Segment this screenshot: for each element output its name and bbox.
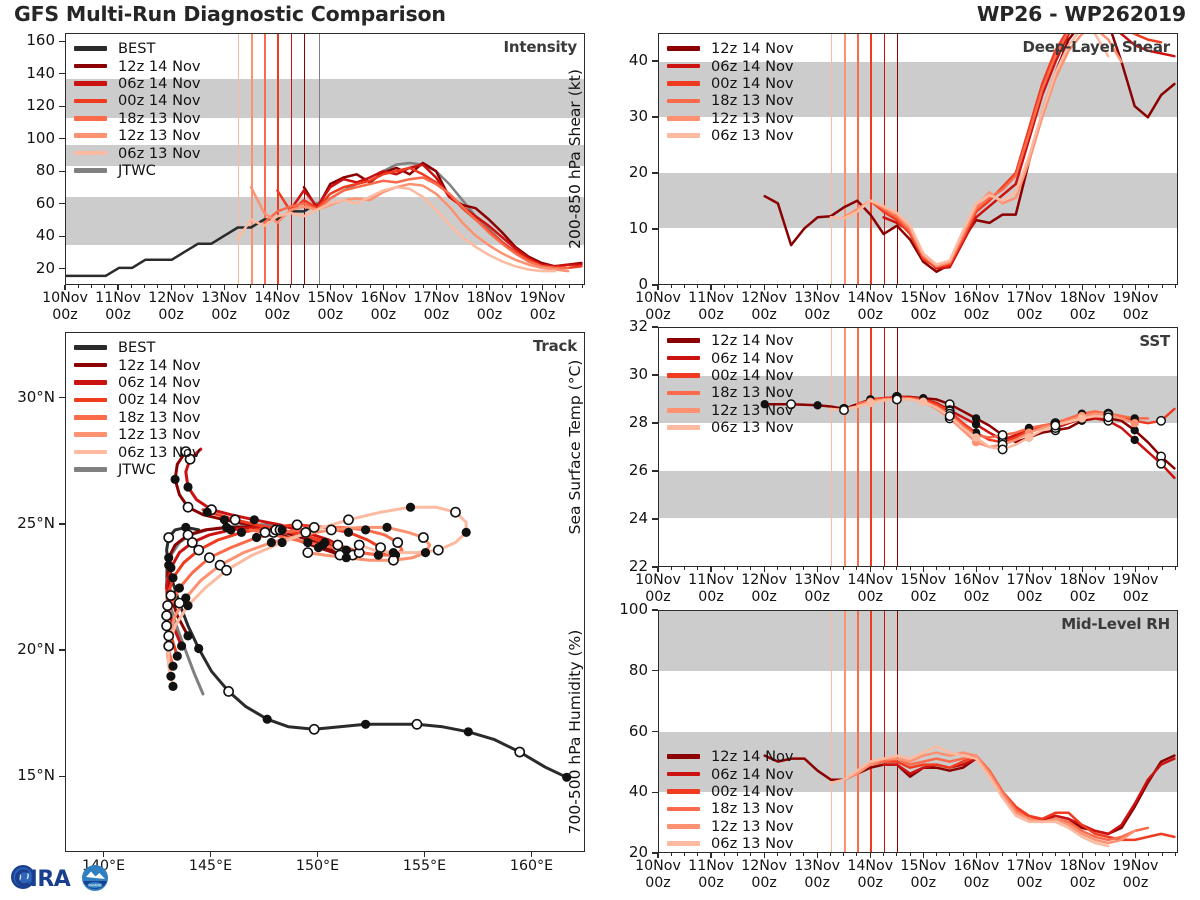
track-point-marker bbox=[252, 533, 261, 542]
track-legend-label: 06z 14 Nov bbox=[118, 374, 201, 391]
intensity-x-hour: 00z bbox=[52, 307, 78, 323]
track-point-marker bbox=[344, 528, 353, 537]
track-legend-swatch bbox=[74, 345, 107, 350]
sst-point-marker bbox=[972, 433, 980, 441]
intensity-legend-label: BEST bbox=[118, 40, 155, 57]
track-point-marker bbox=[173, 652, 182, 661]
shear-x-minor-tick bbox=[737, 285, 738, 288]
rh-x-minor-tick bbox=[1095, 853, 1096, 856]
intensity-legend-swatch bbox=[74, 133, 107, 138]
shear-y-tickmark bbox=[652, 172, 658, 173]
track-point-marker bbox=[462, 528, 471, 537]
intensity-x-minor-tick bbox=[343, 285, 344, 288]
svg-text:CIRA: CIRA bbox=[14, 867, 71, 892]
track-point-marker bbox=[166, 591, 175, 600]
track-legend-item: 18z 13 Nov bbox=[74, 409, 201, 426]
track-x-tickmark bbox=[210, 852, 211, 857]
intensity-y-tickmark bbox=[59, 41, 65, 42]
rh-x-minor-tick bbox=[750, 853, 751, 856]
sst-x-minor-tick bbox=[949, 567, 950, 570]
intensity-x-date: 12Nov bbox=[148, 290, 194, 306]
track-point-marker bbox=[166, 563, 175, 572]
sst-legend-label: 12z 14 Nov bbox=[711, 332, 794, 349]
track-legend-swatch bbox=[74, 363, 107, 368]
intensity-legend-label: 12z 13 Nov bbox=[118, 127, 201, 144]
intensity-x-minor-tick bbox=[569, 285, 570, 288]
sst-x-minor-tick bbox=[671, 567, 672, 570]
shear-x-minor-tick bbox=[697, 285, 698, 288]
shear-x-hour: 00z bbox=[645, 307, 671, 323]
intensity-legend-swatch bbox=[74, 46, 107, 51]
shear-x-hour: 00z bbox=[698, 307, 724, 323]
intensity-legend-item: 06z 13 Nov bbox=[74, 144, 201, 161]
shear-x-minor-tick bbox=[803, 285, 804, 288]
rh-legend-label: 06z 13 Nov bbox=[711, 835, 794, 852]
sst-x-minor-tick bbox=[883, 567, 884, 570]
track-legend-label: 12z 13 Nov bbox=[118, 426, 201, 443]
sst-legend-item: 06z 13 Nov bbox=[667, 419, 794, 436]
shear-x-minor-tick bbox=[936, 285, 937, 288]
intensity-x-minor-tick bbox=[356, 285, 357, 288]
track-point-marker bbox=[434, 546, 443, 555]
track-point-marker bbox=[293, 520, 302, 529]
sst-x-hour: 00z bbox=[1070, 589, 1096, 605]
intensity-x-hour: 00z bbox=[424, 307, 450, 323]
track-point-marker bbox=[163, 601, 172, 610]
intensity-x-minor-tick bbox=[423, 285, 424, 288]
shear-legend-label: 18z 13 Nov bbox=[711, 92, 794, 109]
sst-legend-item: 12z 14 Nov bbox=[667, 332, 794, 349]
intensity-x-minor-tick bbox=[317, 285, 318, 288]
shear-x-minor-tick bbox=[750, 285, 751, 288]
rh-x-hour: 00z bbox=[645, 875, 671, 891]
rh-x-date: 14Nov bbox=[847, 858, 893, 874]
track-point-marker bbox=[320, 538, 329, 547]
track-point-marker bbox=[421, 548, 430, 557]
sst-x-date: 12Nov bbox=[741, 572, 787, 588]
track-point-marker bbox=[267, 538, 276, 547]
rh-x-minor-tick bbox=[856, 853, 857, 856]
track-y-tickmark bbox=[59, 776, 65, 777]
sst-x-minor-tick bbox=[1109, 567, 1110, 570]
track-legend: BEST12z 14 Nov06z 14 Nov00z 14 Nov18z 13… bbox=[74, 339, 201, 478]
intensity-line bbox=[238, 187, 555, 271]
track-point-marker bbox=[361, 525, 370, 534]
rh-x-minor-tick bbox=[963, 853, 964, 856]
rh-x-minor-tick bbox=[1148, 853, 1149, 856]
track-legend-swatch bbox=[74, 467, 107, 472]
rh-y-tickmark bbox=[652, 792, 658, 793]
rh-x-date: 15Nov bbox=[900, 858, 946, 874]
sst-point-marker bbox=[1131, 436, 1139, 444]
sst-x-minor-tick bbox=[724, 567, 725, 570]
rh-legend-label: 18z 13 Nov bbox=[711, 800, 794, 817]
track-legend-label: BEST bbox=[118, 339, 155, 356]
intensity-x-date: 19Nov bbox=[520, 290, 566, 306]
rh-x-hour: 00z bbox=[804, 875, 830, 891]
intensity-x-hour: 00z bbox=[530, 307, 556, 323]
rh-y-tick-label: 80 bbox=[592, 661, 648, 679]
track-point-marker bbox=[451, 508, 460, 517]
track-point-marker bbox=[303, 548, 312, 557]
sst-x-minor-tick bbox=[1002, 567, 1003, 570]
intensity-x-minor-tick bbox=[529, 285, 530, 288]
sst-x-minor-tick bbox=[830, 567, 831, 570]
track-x-tick-label: 150°E bbox=[278, 858, 358, 875]
rh-x-minor-tick bbox=[843, 853, 844, 856]
rh-x-minor-tick bbox=[949, 853, 950, 856]
track-y-tick-label: 30°N bbox=[0, 388, 55, 406]
intensity-y-tick-label: 100 bbox=[0, 129, 55, 147]
track-point-marker bbox=[278, 538, 287, 547]
sst-x-minor-tick bbox=[737, 567, 738, 570]
rh-x-date: 18Nov bbox=[1060, 858, 1106, 874]
shear-x-minor-tick bbox=[1002, 285, 1003, 288]
shear-y-tick-label: 20 bbox=[592, 163, 648, 181]
sst-point-marker bbox=[1104, 413, 1112, 421]
shear-x-hour: 00z bbox=[911, 307, 937, 323]
figure-root: GFS Multi-Run Diagnostic Comparison WP26… bbox=[0, 0, 1200, 900]
intensity-x-minor-tick bbox=[303, 285, 304, 288]
track-legend-item: 06z 13 Nov bbox=[74, 443, 201, 460]
rh-legend-swatch bbox=[667, 824, 700, 829]
rh-legend-item: 12z 14 Nov bbox=[667, 748, 794, 765]
sst-x-minor-tick bbox=[684, 567, 685, 570]
track-legend-swatch bbox=[74, 450, 107, 455]
rh-x-hour: 00z bbox=[1017, 875, 1043, 891]
sst-point-marker bbox=[866, 399, 874, 407]
rh-legend: 12z 14 Nov06z 14 Nov00z 14 Nov18z 13 Nov… bbox=[667, 748, 794, 852]
sst-y-tick-label: 30 bbox=[592, 365, 648, 383]
shear-x-minor-tick bbox=[856, 285, 857, 288]
shear-x-minor-tick bbox=[1175, 285, 1176, 288]
rh-legend-item: 06z 13 Nov bbox=[667, 835, 794, 852]
track-legend-label: 12z 14 Nov bbox=[118, 357, 201, 374]
rh-x-date: 19Nov bbox=[1113, 858, 1159, 874]
rh-legend-item: 00z 14 Nov bbox=[667, 783, 794, 800]
intensity-legend-label: JTWC bbox=[118, 162, 156, 179]
intensity-x-hour: 00z bbox=[105, 307, 131, 323]
rh-x-minor-tick bbox=[1069, 853, 1070, 856]
track-point-marker bbox=[177, 641, 186, 650]
intensity-line bbox=[291, 165, 582, 267]
intensity-y-tickmark bbox=[59, 171, 65, 172]
shear-x-minor-tick bbox=[724, 285, 725, 288]
rh-y-tick-label: 40 bbox=[592, 782, 648, 800]
sst-point-marker bbox=[1078, 414, 1086, 422]
rh-legend-item: 06z 14 Nov bbox=[667, 765, 794, 782]
shear-y-tickmark bbox=[652, 228, 658, 229]
rh-x-minor-tick bbox=[936, 853, 937, 856]
intensity-legend-item: BEST bbox=[74, 40, 201, 57]
rh-x-hour: 00z bbox=[751, 875, 777, 891]
track-line bbox=[167, 527, 567, 777]
cira-logo: CIRA RAMMB bbox=[6, 855, 126, 897]
intensity-x-date: 17Nov bbox=[414, 290, 460, 306]
sst-point-marker bbox=[1051, 421, 1059, 429]
rh-x-minor-tick bbox=[1016, 853, 1017, 856]
track-point-marker bbox=[166, 672, 175, 681]
rh-x-minor-tick bbox=[1122, 853, 1123, 856]
track-point-marker bbox=[250, 515, 259, 524]
track-point-marker bbox=[188, 538, 197, 547]
shear-x-minor-tick bbox=[1122, 285, 1123, 288]
sst-y-tick-label: 26 bbox=[592, 461, 648, 479]
shear-legend-swatch bbox=[667, 81, 700, 86]
track-point-marker bbox=[237, 528, 246, 537]
track-point-marker bbox=[310, 523, 319, 532]
shear-legend-label: 00z 14 Nov bbox=[711, 75, 794, 92]
sst-point-marker bbox=[998, 445, 1006, 453]
sst-x-minor-tick bbox=[1042, 567, 1043, 570]
sst-x-minor-tick bbox=[843, 567, 844, 570]
shear-x-date: 19Nov bbox=[1113, 290, 1159, 306]
shear-x-hour: 00z bbox=[1123, 307, 1149, 323]
rh-x-minor-tick bbox=[671, 853, 672, 856]
intensity-legend-swatch bbox=[74, 64, 107, 69]
track-legend-item: 06z 14 Nov bbox=[74, 374, 201, 391]
rh-legend-swatch bbox=[667, 789, 700, 794]
sst-point-marker bbox=[1131, 419, 1139, 427]
sst-legend-swatch bbox=[667, 391, 700, 396]
intensity-legend-swatch bbox=[74, 99, 107, 104]
sst-y-tickmark bbox=[652, 374, 658, 375]
rh-x-minor-tick bbox=[777, 853, 778, 856]
intensity-y-tickmark bbox=[59, 106, 65, 107]
intensity-legend-label: 06z 14 Nov bbox=[118, 75, 201, 92]
intensity-legend-label: 18z 13 Nov bbox=[118, 110, 201, 127]
sst-point-marker bbox=[946, 412, 954, 420]
shear-line bbox=[857, 34, 1134, 266]
rh-x-date: 11Nov bbox=[688, 858, 734, 874]
track-x-tick-label: 145°E bbox=[171, 858, 251, 875]
svg-text:RAMMB: RAMMB bbox=[88, 884, 102, 888]
track-legend-label: JTWC bbox=[118, 461, 156, 478]
sst-legend: 12z 14 Nov06z 14 Nov00z 14 Nov18z 13 Nov… bbox=[667, 332, 794, 436]
rh-x-minor-tick bbox=[803, 853, 804, 856]
sst-panel-title: SST bbox=[1139, 332, 1170, 350]
shear-x-minor-tick bbox=[883, 285, 884, 288]
track-point-marker bbox=[327, 525, 336, 534]
track-legend-swatch bbox=[74, 432, 107, 437]
shear-x-minor-tick bbox=[1162, 285, 1163, 288]
intensity-x-minor-tick bbox=[237, 285, 238, 288]
shear-x-date: 18Nov bbox=[1060, 290, 1106, 306]
shear-panel-title: Deep-Layer Shear bbox=[1022, 38, 1170, 56]
track-point-marker bbox=[389, 548, 398, 557]
rh-x-hour: 00z bbox=[698, 875, 724, 891]
rh-x-hour: 00z bbox=[964, 875, 990, 891]
track-point-marker bbox=[310, 725, 319, 734]
sst-x-date: 14Nov bbox=[847, 572, 893, 588]
rh-y-tickmark bbox=[652, 609, 658, 610]
intensity-x-minor-tick bbox=[131, 285, 132, 288]
sst-y-tick-label: 24 bbox=[592, 509, 648, 527]
rh-legend-label: 12z 13 Nov bbox=[711, 818, 794, 835]
sst-x-minor-tick bbox=[1175, 567, 1176, 570]
intensity-x-minor-tick bbox=[184, 285, 185, 288]
rh-legend-label: 12z 14 Nov bbox=[711, 748, 794, 765]
track-point-marker bbox=[162, 611, 171, 620]
intensity-legend-label: 06z 13 Nov bbox=[118, 145, 201, 162]
shear-x-date: 11Nov bbox=[688, 290, 734, 306]
rh-y-axis-label: 700-500 hPa Humidity (%) bbox=[566, 629, 584, 834]
track-y-tickmark bbox=[59, 397, 65, 398]
rh-legend-swatch bbox=[667, 772, 700, 777]
shear-legend-label: 12z 13 Nov bbox=[711, 110, 794, 127]
shear-x-minor-tick bbox=[671, 285, 672, 288]
sst-x-minor-tick bbox=[1069, 567, 1070, 570]
shear-x-date: 12Nov bbox=[741, 290, 787, 306]
sst-legend-label: 00z 14 Nov bbox=[711, 367, 794, 384]
intensity-legend-item: 00z 14 Nov bbox=[74, 92, 201, 109]
intensity-line bbox=[277, 168, 581, 268]
intensity-x-tick-label: 19Nov00z bbox=[509, 290, 577, 324]
sst-y-axis-label: Sea Surface Temp (°C) bbox=[566, 360, 584, 535]
sst-x-minor-tick bbox=[697, 567, 698, 570]
sst-x-hour: 00z bbox=[1017, 589, 1043, 605]
shear-x-minor-tick bbox=[843, 285, 844, 288]
shear-x-date: 17Nov bbox=[1007, 290, 1053, 306]
sst-x-minor-tick bbox=[1122, 567, 1123, 570]
intensity-x-minor-tick bbox=[449, 285, 450, 288]
sst-legend-label: 06z 13 Nov bbox=[711, 419, 794, 436]
sst-legend-item: 18z 13 Nov bbox=[667, 384, 794, 401]
track-point-marker bbox=[226, 525, 235, 534]
track-point-marker bbox=[263, 715, 272, 724]
shear-legend-item: 06z 13 Nov bbox=[667, 127, 794, 144]
track-legend-item: 12z 13 Nov bbox=[74, 426, 201, 443]
intensity-x-date: 18Nov bbox=[467, 290, 513, 306]
intensity-x-minor-tick bbox=[263, 285, 264, 288]
sst-x-minor-tick bbox=[1016, 567, 1017, 570]
shear-legend-swatch bbox=[667, 64, 700, 69]
rh-x-minor-tick bbox=[724, 853, 725, 856]
page-title-left: GFS Multi-Run Diagnostic Comparison bbox=[14, 2, 446, 26]
track-point-marker bbox=[344, 515, 353, 524]
intensity-x-minor-tick bbox=[290, 285, 291, 288]
track-point-marker bbox=[183, 482, 192, 491]
sst-x-minor-tick bbox=[803, 567, 804, 570]
sst-legend-item: 12z 13 Nov bbox=[667, 402, 794, 419]
track-point-marker bbox=[194, 546, 203, 555]
rh-y-tick-label: 100 bbox=[592, 600, 648, 618]
rh-x-hour: 00z bbox=[1070, 875, 1096, 891]
shear-legend-label: 06z 13 Nov bbox=[711, 127, 794, 144]
track-x-tickmark bbox=[424, 852, 425, 857]
rh-x-date: 12Nov bbox=[741, 858, 787, 874]
track-x-tickmark bbox=[317, 852, 318, 857]
track-point-marker bbox=[224, 687, 233, 696]
rh-x-minor-tick bbox=[1109, 853, 1110, 856]
track-x-tick-label: 155°E bbox=[385, 858, 465, 875]
rh-x-minor-tick bbox=[1042, 853, 1043, 856]
sst-point-marker bbox=[998, 431, 1006, 439]
rh-legend-swatch bbox=[667, 807, 700, 812]
intensity-x-minor-tick bbox=[250, 285, 251, 288]
intensity-legend-swatch bbox=[74, 168, 107, 173]
shear-x-minor-tick bbox=[989, 285, 990, 288]
track-point-marker bbox=[164, 533, 173, 542]
shear-x-minor-tick bbox=[1016, 285, 1017, 288]
track-point-marker bbox=[231, 515, 240, 524]
rh-x-minor-tick bbox=[830, 853, 831, 856]
intensity-y-tickmark bbox=[59, 138, 65, 139]
track-point-marker bbox=[175, 583, 184, 592]
intensity-y-tick-label: 20 bbox=[0, 259, 55, 277]
intensity-x-hour: 00z bbox=[264, 307, 290, 323]
rh-line bbox=[765, 756, 1175, 834]
rh-legend-label: 00z 14 Nov bbox=[711, 783, 794, 800]
sst-x-hour: 00z bbox=[751, 589, 777, 605]
intensity-y-tickmark bbox=[59, 236, 65, 237]
intensity-x-minor-tick bbox=[91, 285, 92, 288]
intensity-y-tick-label: 40 bbox=[0, 226, 55, 244]
intensity-x-minor-tick bbox=[476, 285, 477, 288]
track-point-marker bbox=[168, 662, 177, 671]
track-point-marker bbox=[355, 540, 364, 549]
sst-x-hour: 00z bbox=[964, 589, 990, 605]
rh-legend-swatch bbox=[667, 754, 700, 759]
sst-x-minor-tick bbox=[790, 567, 791, 570]
track-point-marker bbox=[194, 644, 203, 653]
shear-y-tick-label: 30 bbox=[592, 107, 648, 125]
sst-legend-item: 00z 14 Nov bbox=[667, 367, 794, 384]
sst-legend-label: 12z 13 Nov bbox=[711, 402, 794, 419]
intensity-legend-item: JTWC bbox=[74, 162, 201, 179]
intensity-legend-item: 12z 13 Nov bbox=[74, 127, 201, 144]
shear-x-minor-tick bbox=[1042, 285, 1043, 288]
shear-x-tick-label: 19Nov00z bbox=[1102, 290, 1170, 324]
sst-x-minor-tick bbox=[1095, 567, 1096, 570]
shear-y-tickmark bbox=[652, 116, 658, 117]
rh-y-tickmark bbox=[652, 731, 658, 732]
shear-legend-label: 06z 14 Nov bbox=[711, 58, 794, 75]
intensity-y-tick-label: 140 bbox=[0, 64, 55, 82]
shear-x-minor-tick bbox=[1148, 285, 1149, 288]
track-point-marker bbox=[303, 538, 312, 547]
intensity-legend-item: 06z 14 Nov bbox=[74, 75, 201, 92]
sst-legend-swatch bbox=[667, 338, 700, 343]
sst-x-date: 18Nov bbox=[1060, 572, 1106, 588]
intensity-legend-swatch bbox=[74, 81, 107, 86]
intensity-x-hour: 00z bbox=[318, 307, 344, 323]
track-point-marker bbox=[412, 720, 421, 729]
rh-x-minor-tick bbox=[1055, 853, 1056, 856]
track-point-marker bbox=[342, 553, 351, 562]
intensity-y-tickmark bbox=[59, 203, 65, 204]
track-x-tick-label: 160°E bbox=[492, 858, 572, 875]
intensity-x-date: 14Nov bbox=[254, 290, 300, 306]
shear-x-minor-tick bbox=[1069, 285, 1070, 288]
track-point-marker bbox=[382, 523, 391, 532]
shear-x-minor-tick bbox=[830, 285, 831, 288]
rh-line bbox=[870, 756, 1174, 840]
intensity-legend: BEST12z 14 Nov06z 14 Nov00z 14 Nov18z 13… bbox=[74, 40, 201, 179]
intensity-x-minor-tick bbox=[144, 285, 145, 288]
sst-point-marker bbox=[1025, 433, 1033, 441]
rh-legend-swatch bbox=[667, 841, 700, 846]
track-point-marker bbox=[164, 553, 173, 562]
intensity-legend-item: 12z 14 Nov bbox=[74, 57, 201, 74]
track-legend-swatch bbox=[74, 380, 107, 385]
intensity-legend-label: 12z 14 Nov bbox=[118, 58, 201, 75]
intensity-y-tick-label: 60 bbox=[0, 194, 55, 212]
intensity-x-date: 15Nov bbox=[307, 290, 353, 306]
track-y-tickmark bbox=[59, 649, 65, 650]
shear-x-hour: 00z bbox=[1070, 307, 1096, 323]
shear-legend-label: 12z 14 Nov bbox=[711, 40, 794, 57]
